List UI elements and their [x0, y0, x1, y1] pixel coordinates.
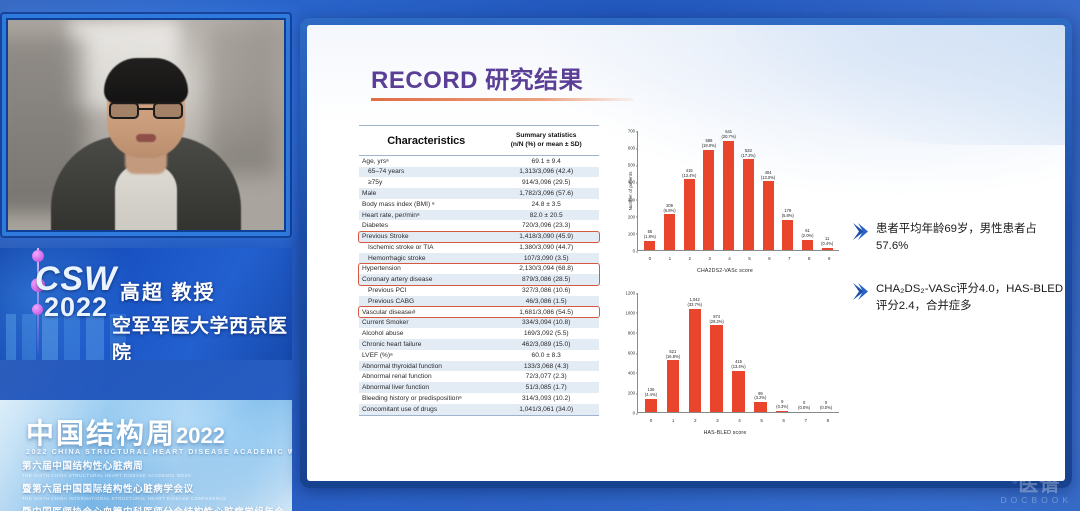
bar-value-label: 11(0.4%): [821, 237, 833, 247]
table-cell-summary: 914/3,096 (29.5): [493, 177, 599, 188]
video-background-shape-right: [207, 28, 279, 175]
speaker-organization: 空军军医大学西京医院: [112, 311, 290, 360]
x-tick-label: 8: [799, 256, 819, 261]
table-cell-characteristic: Previous CABG: [359, 296, 493, 307]
chart-cha2ds2-vasc: Number of patients 010020030040050060070…: [607, 125, 843, 277]
speaker-video-tile[interactable]: [2, 14, 290, 236]
y-tick-label: 300: [628, 197, 635, 202]
bar: 55(1.8%): [644, 241, 655, 250]
table-cell-summary: 69.1 ± 9.4: [493, 155, 599, 166]
table-cell-summary: 1,782/3,096 (57.6): [493, 188, 599, 199]
table-cell-characteristic: LVEF (%)ᵃ: [359, 350, 493, 361]
table-row: Diabetes720/3,096 (23.3): [359, 220, 599, 231]
table-row: Concomitant use of drugs1,041/3,061 (34.…: [359, 404, 599, 415]
bar-value-label: 55(1.8%): [644, 230, 656, 240]
table-cell-summary: 879/3,086 (28.5): [493, 274, 599, 285]
table-row: LVEF (%)ᵃ60.0 ± 8.3: [359, 350, 599, 361]
bar-column: 588(19.0%): [699, 131, 719, 250]
table-cell-summary: 1,418/3,090 (45.9): [493, 231, 599, 242]
conference-subtitle-cn: 暨中国医师协会心血管内科医师分会结构性心脏病学组年会: [22, 504, 292, 511]
table-cell-characteristic: Abnormal liver function: [359, 382, 493, 393]
bullet-text: 患者平均年龄69岁，男性患者占57.6%: [876, 221, 1064, 255]
table-row: Abnormal thyroidal function133/3,068 (4.…: [359, 361, 599, 372]
y-tick-label: 200: [628, 214, 635, 219]
watermark-cn-text: 医谱: [1018, 474, 1060, 496]
title-underline: [371, 98, 633, 101]
table-cell-summary: 60.0 ± 8.3: [493, 350, 599, 361]
y-tick-label: 500: [628, 163, 635, 168]
bullet-item: 患者平均年龄69岁，男性患者占57.6%: [852, 221, 1064, 255]
table-cell-characteristic: 65–74 years: [359, 167, 493, 178]
table-cell-characteristic: Previous PCI: [359, 285, 493, 296]
chart2-x-axis-label: HAS-BLED score: [607, 430, 843, 436]
table-cell-characteristic: Concomitant use of drugs: [359, 404, 493, 415]
conference-title-en: 2022 CHINA STRUCTURAL HEART DISEASE ACAD…: [26, 447, 292, 456]
table-cell-characteristic: Age, yrsᵃ: [359, 155, 493, 166]
table-cell-characteristic: Diabetes: [359, 220, 493, 231]
chart2-x-axis: [637, 412, 839, 413]
table-row: Heart rate, per/minᵃ82.0 ± 20.5: [359, 210, 599, 221]
conference-subtitle-cn: 第六届中国结构性心脏病周: [22, 458, 292, 472]
table-row: Body mass index (BMI) ᵃ24.8 ± 3.5: [359, 199, 599, 210]
table-cell-characteristic: Heart rate, per/minᵃ: [359, 210, 493, 221]
table-row: Coronary artery disease879/3,086 (28.5): [359, 274, 599, 285]
table-cell-characteristic: Hemorrhagic stroke: [359, 253, 493, 264]
speaker-identity: 高超 教授 空军军医大学西京医院: [112, 276, 290, 360]
y-tick-label: 0: [633, 411, 635, 416]
table-cell-summary: 2,130/3,094 (68.8): [493, 264, 599, 275]
table-cell-summary: 462/3,089 (15.0): [493, 339, 599, 350]
bar-column: 874(28.2%): [706, 293, 728, 412]
bar-value-label: 209(6.8%): [664, 204, 676, 214]
bullet-text: CHA₂DS₂-VASc评分4.0，HAS-BLED 评分2.4，合并症多: [876, 281, 1064, 315]
bar-column: 0(0.0%): [793, 293, 815, 412]
bar: 209(6.8%): [664, 214, 675, 250]
bar-column: 9(0.3%): [771, 293, 793, 412]
bar-value-label: 179(5.8%): [782, 209, 794, 219]
table-row: Male1,782/3,096 (57.6): [359, 188, 599, 199]
bar: 533(17.2%): [743, 159, 754, 250]
bar-value-label: 404(13.0%): [761, 171, 775, 181]
table-cell-summary: 51/3,085 (1.7): [493, 382, 599, 393]
bar: 874(28.2%): [710, 325, 722, 412]
table-row: 65–74 years1,313/3,096 (42.4): [359, 167, 599, 178]
bar: 588(19.0%): [703, 150, 714, 250]
bar-value-label: 0(0.0%): [820, 401, 832, 411]
x-tick-label: 1: [660, 256, 680, 261]
bar-value-label: 0(0.0%): [798, 401, 810, 411]
chart1-x-ticks: 0123456789: [640, 256, 839, 261]
conference-subtitle-list: 第六届中国结构性心脏病周 THE SIXTH CHINA STRUCTURAL …: [22, 458, 292, 511]
speaker-info-banner: CSW 2022 高超 教授 空军军医大学西京医院: [0, 248, 292, 360]
bar: 61(2.0%): [802, 240, 813, 250]
table-cell-summary: 1,681/3,086 (54.5): [493, 307, 599, 318]
table-row: Age, yrsᵃ69.1 ± 9.4: [359, 155, 599, 166]
chart1-x-axis: [637, 250, 839, 251]
table-cell-summary: 334/3,094 (10.8): [493, 318, 599, 329]
x-tick-label: 2: [680, 256, 700, 261]
bar-value-label: 533(17.2%): [741, 149, 755, 159]
x-tick-label: 9: [819, 256, 839, 261]
bar-column: 641(20.7%): [719, 131, 739, 250]
bar-value-label: 415(13.4%): [682, 169, 696, 179]
table-cell-summary: 1,041/3,061 (34.0): [493, 404, 599, 415]
table-cell-summary: 314/3,093 (10.2): [493, 393, 599, 404]
bar: 11(0.4%): [822, 248, 833, 250]
table-cell-characteristic: Previous Stroke: [359, 231, 493, 242]
table-cell-characteristic: Ischemic stroke or TIA: [359, 242, 493, 253]
bar-column: 61(2.0%): [798, 131, 818, 250]
table-head: Characteristics Summary statistics (n/N …: [359, 126, 599, 156]
bar-value-label: 1,042(33.7%): [688, 298, 702, 308]
bar-value-label: 588(19.0%): [702, 139, 716, 149]
table-body: Age, yrsᵃ69.1 ± 9.465–74 years1,313/3,09…: [359, 155, 599, 415]
conference-subtitle-en: THE SIXTH CHINA INTERNATIONAL STRUCTURAL…: [22, 496, 292, 501]
x-tick-label: 7: [795, 418, 817, 423]
x-tick-label: 4: [720, 256, 740, 261]
x-tick-label: 3: [700, 256, 720, 261]
table-cell-summary: 72/3,077 (2.3): [493, 371, 599, 382]
column-header-summary-line1: Summary statistics: [496, 132, 596, 141]
table-cell-summary: 1,380/3,090 (44.7): [493, 242, 599, 253]
conference-subtitle-cn: 暨第六届中国国际结构性心脏病学会议: [22, 481, 292, 495]
chart-has-bled: 020040060080010001200 136(4.4%)521(16.8%…: [607, 287, 843, 439]
table-row: Abnormal renal function72/3,077 (2.3): [359, 371, 599, 382]
table-cell-characteristic: Body mass index (BMI) ᵃ: [359, 199, 493, 210]
table-cell-characteristic: Bleeding history or predispositionᵃ: [359, 393, 493, 404]
bar-column: 533(17.2%): [739, 131, 759, 250]
bar-column: 415(13.4%): [728, 293, 750, 412]
slide-frame[interactable]: RECORD 研究结果 Characteristics Summary stat…: [300, 18, 1072, 488]
bar: 99(3.2%): [754, 402, 766, 412]
bar: 179(5.8%): [782, 220, 793, 250]
bar: 404(13.0%): [763, 181, 774, 250]
bar: 9(0.3%): [776, 411, 788, 412]
y-tick-label: 100: [628, 231, 635, 236]
bar: 415(13.4%): [732, 371, 744, 412]
table-row: Ischemic stroke or TIA1,380/3,090 (44.7): [359, 242, 599, 253]
y-tick-label: 800: [628, 330, 635, 335]
y-tick-label: 400: [628, 180, 635, 185]
chart1-plot-area: Number of patients 010020030040050060070…: [637, 131, 839, 251]
column-header-characteristics: Characteristics: [359, 126, 493, 156]
table-row: Previous CABG46/3,086 (1.5): [359, 296, 599, 307]
bar-value-label: 641(20.7%): [721, 130, 735, 140]
table-cell-summary: 169/3,092 (5.5): [493, 328, 599, 339]
bar-column: 179(5.8%): [778, 131, 798, 250]
chart1-y-axis-label: Number of patients: [628, 172, 633, 211]
table-cell-summary: 46/3,086 (1.5): [493, 296, 599, 307]
bar-value-label: 136(4.4%): [645, 388, 657, 398]
column-header-summary: Summary statistics (n/N (%) or mean ± SD…: [493, 126, 599, 156]
table-row: Previous PCI327/3,086 (10.6): [359, 285, 599, 296]
table-row: Bleeding history or predispositionᵃ314/3…: [359, 393, 599, 404]
bar-value-label: 99(3.2%): [754, 392, 766, 402]
table-cell-characteristic: Coronary artery disease: [359, 274, 493, 285]
x-tick-label: 4: [728, 418, 750, 423]
bar-value-label: 415(13.4%): [731, 360, 745, 370]
table-cell-characteristic: Vascular disease#: [359, 307, 493, 318]
table-row: Chronic heart failure462/3,089 (15.0): [359, 339, 599, 350]
speaker-name: 高超 教授: [120, 276, 290, 305]
x-tick-label: 6: [759, 256, 779, 261]
bar-value-label: 61(2.0%): [801, 229, 813, 239]
table-cell-characteristic: ≥75y: [359, 177, 493, 188]
speaker-hair: [104, 58, 188, 104]
bar-column: 209(6.8%): [660, 131, 680, 250]
chart1-x-axis-label: CHA2DS2-VASc score: [607, 268, 843, 274]
bar: 1,042(33.7%): [689, 309, 701, 412]
bar-column: 1,042(33.7%): [684, 293, 706, 412]
bar-column: 0(0.0%): [815, 293, 837, 412]
slide-canvas: RECORD 研究结果 Characteristics Summary stat…: [307, 25, 1065, 481]
takeaway-bullets: 患者平均年龄69岁，男性患者占57.6% CHA₂DS₂-VASc评分4.0，H…: [852, 221, 1064, 341]
chart1-bars: 55(1.8%)209(6.8%)415(13.4%)588(19.0%)641…: [640, 131, 837, 250]
y-tick-label: 700: [628, 129, 635, 134]
watermark-en: DOCBOOK: [1001, 496, 1072, 505]
x-tick-label: 7: [779, 256, 799, 261]
table-cell-characteristic: Abnormal renal function: [359, 371, 493, 382]
table-row: ≥75y914/3,096 (29.5): [359, 177, 599, 188]
bar-column: 11(0.4%): [817, 131, 837, 250]
bar-column: 415(13.4%): [679, 131, 699, 250]
glasses-icon: [109, 102, 183, 120]
y-tick-label: 600: [628, 351, 635, 356]
conference-title-year: 2022: [176, 423, 225, 448]
slide-title: RECORD 研究结果: [371, 60, 583, 95]
table-cell-summary: 720/3,096 (23.3): [493, 220, 599, 231]
docbook-watermark: ®医谱 DOCBOOK: [1001, 475, 1072, 505]
conference-subtitle-en: THE SIXTH CHINA STRUCTURAL HEART DISEASE…: [22, 473, 292, 478]
speaker-video-feed: [8, 20, 284, 230]
bar-value-label: 9(0.3%): [776, 400, 788, 410]
table-cell-characteristic: Current Smoker: [359, 318, 493, 329]
x-tick-label: 3: [706, 418, 728, 423]
chart2-bars: 136(4.4%)521(16.8%)1,042(33.7%)874(28.2%…: [640, 293, 837, 412]
x-tick-label: 5: [751, 418, 773, 423]
conference-title: 中国结构周2022: [26, 412, 225, 452]
x-tick-label: 0: [640, 418, 662, 423]
table-cell-summary: 1,313/3,096 (42.4): [493, 167, 599, 178]
table-cell-characteristic: Hypertension: [359, 264, 493, 275]
table-cell-characteristic: Alcohol abuse: [359, 328, 493, 339]
bar-column: 55(1.8%): [640, 131, 660, 250]
y-tick-label: 600: [628, 146, 635, 151]
table-cell-summary: 327/3,086 (10.6): [493, 285, 599, 296]
table-cell-summary: 82.0 ± 20.5: [493, 210, 599, 221]
conference-title-cn: 中国结构周: [26, 418, 176, 449]
table-row: Current Smoker334/3,094 (10.8): [359, 318, 599, 329]
table-cell-summary: 133/3,068 (4.3): [493, 361, 599, 372]
x-tick-label: 8: [817, 418, 839, 423]
table-cell-characteristic: Chronic heart failure: [359, 339, 493, 350]
characteristics-table-wrapper: Characteristics Summary statistics (n/N …: [359, 125, 599, 416]
y-tick-label: 1200: [625, 291, 635, 296]
x-tick-label: 5: [740, 256, 760, 261]
conference-banner: 中国结构周2022 2022 CHINA STRUCTURAL HEART DI…: [0, 400, 292, 511]
chevron-right-icon: [852, 282, 869, 301]
table-row: Hypertension2,130/3,094 (68.8): [359, 264, 599, 275]
bar: 641(20.7%): [723, 141, 734, 250]
left-panel: CSW 2022 高超 教授 空军军医大学西京医院 中国结构周2022 2022…: [0, 0, 292, 511]
y-tick-label: 1000: [625, 310, 635, 315]
table-row: Vascular disease#1,681/3,086 (54.5): [359, 307, 599, 318]
bar-column: 99(3.2%): [749, 293, 771, 412]
table-row: Hemorrhagic stroke107/3,090 (3.5): [359, 253, 599, 264]
table-cell-summary: 107/3,090 (3.5): [493, 253, 599, 264]
bar-value-label: 521(16.8%): [666, 350, 680, 360]
bar-value-label: 874(28.2%): [709, 315, 723, 325]
table-row: Alcohol abuse169/3,092 (5.5): [359, 328, 599, 339]
table-row: Previous Stroke1,418/3,090 (45.9): [359, 231, 599, 242]
y-tick-label: 0: [633, 249, 635, 254]
x-tick-label: 0: [640, 256, 660, 261]
chevron-right-icon: [852, 222, 869, 241]
column-header-summary-line2: (n/N (%) or mean ± SD): [496, 141, 596, 150]
table-cell-summary: 24.8 ± 3.5: [493, 199, 599, 210]
bar: 415(13.4%): [684, 179, 695, 250]
table-header-row: Characteristics Summary statistics (n/N …: [359, 126, 599, 156]
bar: 521(16.8%): [667, 360, 679, 412]
bar: 136(4.4%): [645, 399, 657, 412]
x-tick-label: 1: [662, 418, 684, 423]
bar-column: 404(13.0%): [758, 131, 778, 250]
watermark-cn: ®医谱: [1001, 475, 1072, 496]
x-tick-label: 2: [684, 418, 706, 423]
characteristics-table: Characteristics Summary statistics (n/N …: [359, 125, 599, 416]
bullet-item: CHA₂DS₂-VASc评分4.0，HAS-BLED 评分2.4，合并症多: [852, 281, 1064, 315]
table-cell-characteristic: Abnormal thyroidal function: [359, 361, 493, 372]
x-tick-label: 6: [773, 418, 795, 423]
y-tick-label: 400: [628, 370, 635, 375]
table-cell-characteristic: Male: [359, 188, 493, 199]
speaker-mouth: [136, 134, 156, 142]
bar-column: 136(4.4%): [640, 293, 662, 412]
chart2-plot-area: 020040060080010001200 136(4.4%)521(16.8%…: [637, 293, 839, 413]
bar-column: 521(16.8%): [662, 293, 684, 412]
table-row: Abnormal liver function51/3,085 (1.7): [359, 382, 599, 393]
y-tick-label: 200: [628, 391, 635, 396]
chart2-x-ticks: 012345678: [640, 418, 839, 423]
